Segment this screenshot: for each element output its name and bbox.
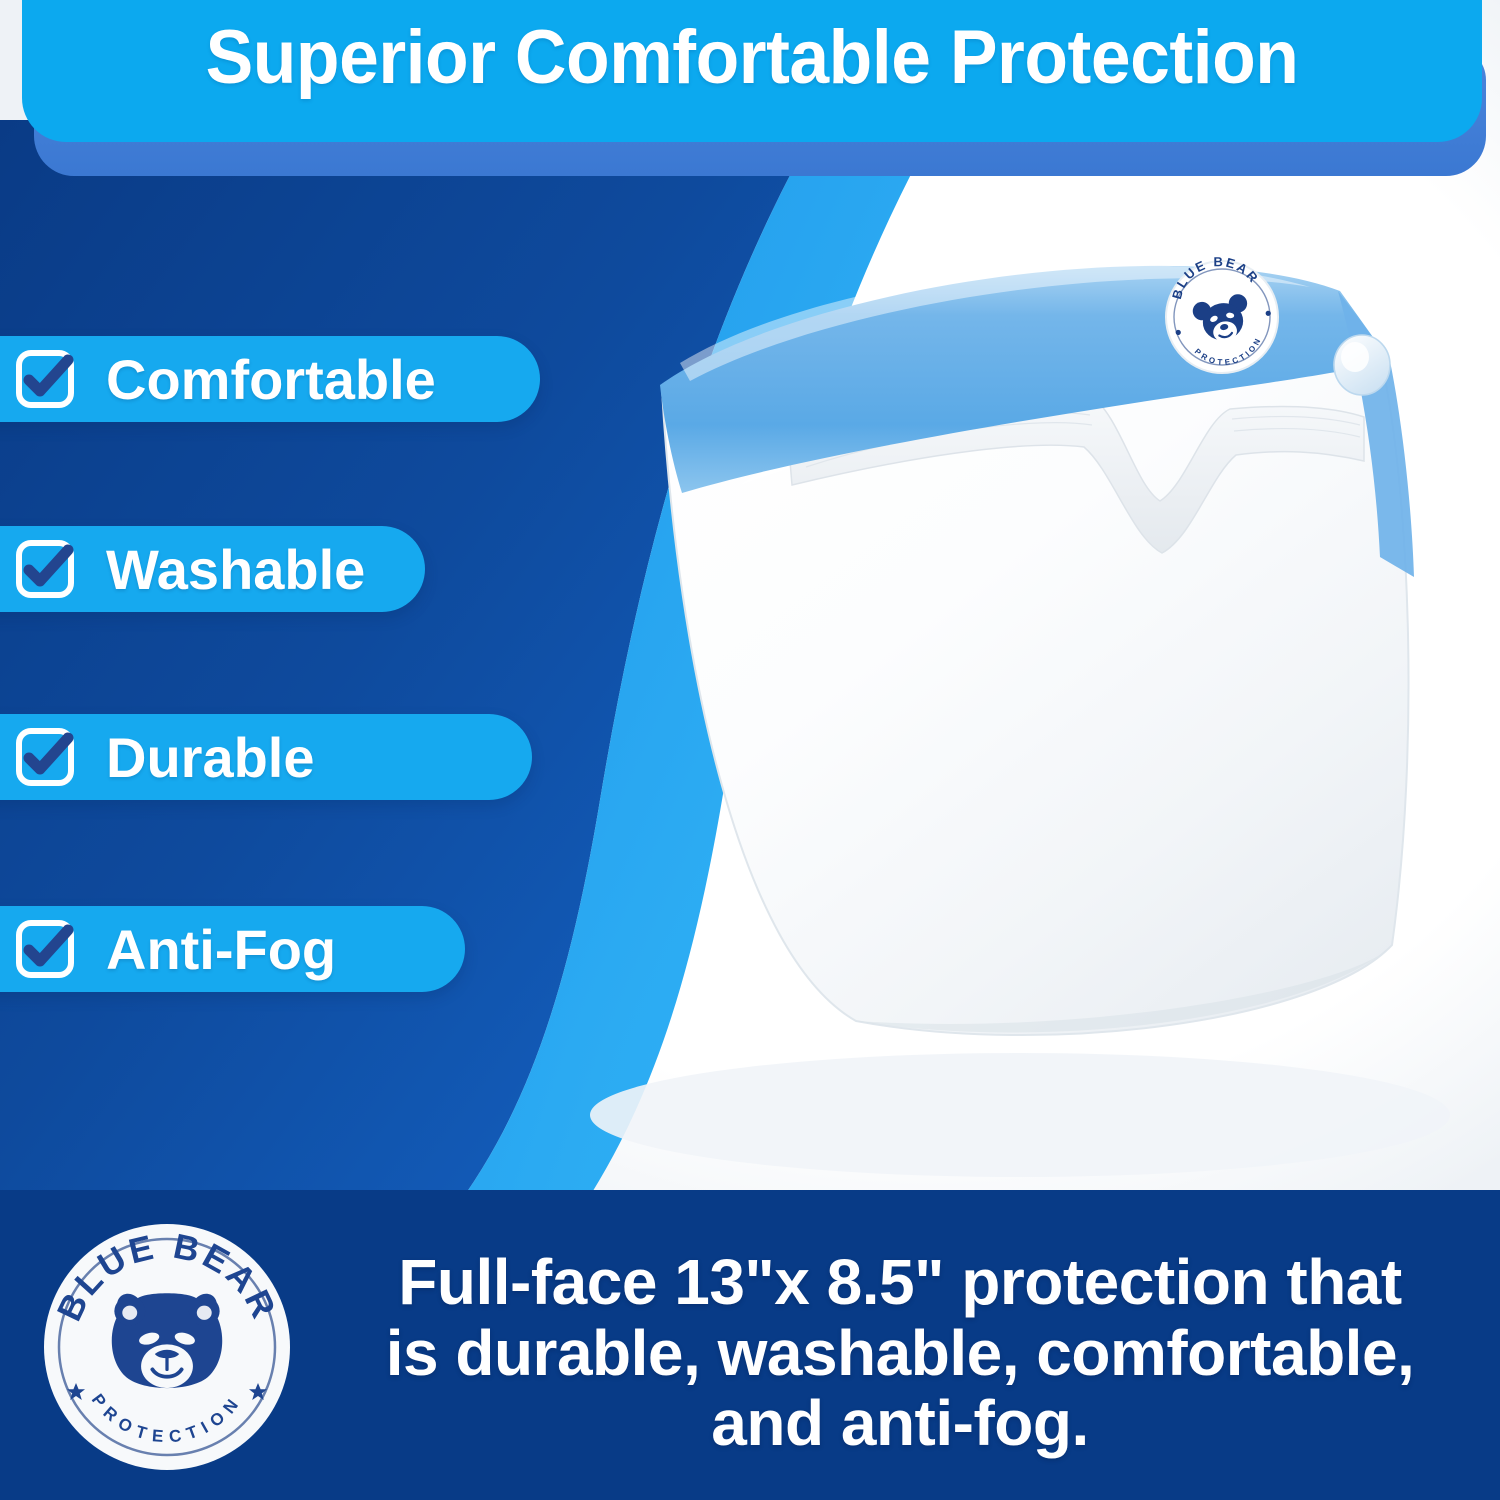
footer-description: Full-face 13"x 8.5" protection that is d… — [330, 1228, 1470, 1478]
page-title: Superior Comfortable Protection — [66, 0, 1438, 148]
feature-pill-washable[interactable]: Washable — [0, 526, 425, 612]
checkbox-checked-icon — [16, 350, 74, 408]
footer-logo: BLUE BEAR PROTECTION — [42, 1222, 292, 1472]
product-marketing-image: Superior Comfortable Protection Comforta… — [0, 0, 1500, 1500]
footer-description-line-1: Full-face 13"x 8.5" protection that — [386, 1247, 1415, 1317]
feature-label: Anti-Fog — [106, 917, 336, 982]
feature-pill-comfortable[interactable]: Comfortable — [0, 336, 540, 422]
checkbox-checked-icon — [16, 540, 74, 598]
checkbox-checked-icon — [16, 920, 74, 978]
feature-label: Washable — [106, 537, 365, 602]
feature-label: Durable — [106, 725, 315, 790]
feature-pill-durable[interactable]: Durable — [0, 714, 532, 800]
product-face-shield: BLUE BEAR PROTECTION — [620, 185, 1500, 1065]
snap-button — [1334, 335, 1390, 395]
feature-pill-anti-fog[interactable]: Anti-Fog — [0, 906, 465, 992]
footer-description-line-2: is durable, washable, comfortable, — [386, 1318, 1415, 1388]
checkbox-checked-icon — [16, 728, 74, 786]
footer-description-line-3: and anti-fog. — [386, 1388, 1415, 1458]
feature-label: Comfortable — [106, 347, 436, 412]
